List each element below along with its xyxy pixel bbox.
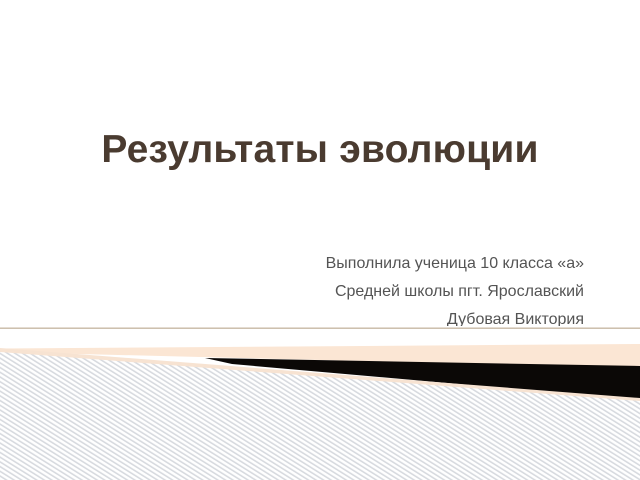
subtitle-line-2: Средней школы пгт. Ярославский: [154, 278, 584, 306]
slide-subtitle: Выполнила ученица 10 класса «а» Средней …: [154, 250, 584, 334]
slide-title: Результаты эволюции: [0, 126, 640, 174]
presentation-slide: Результаты эволюции Выполнила ученица 10…: [0, 0, 640, 480]
divider-rule: [0, 328, 640, 329]
footer-decoration-graphic: [0, 326, 640, 480]
subtitle-line-1: Выполнила ученица 10 класса «а»: [154, 250, 584, 278]
footer-decoration: [0, 326, 640, 480]
